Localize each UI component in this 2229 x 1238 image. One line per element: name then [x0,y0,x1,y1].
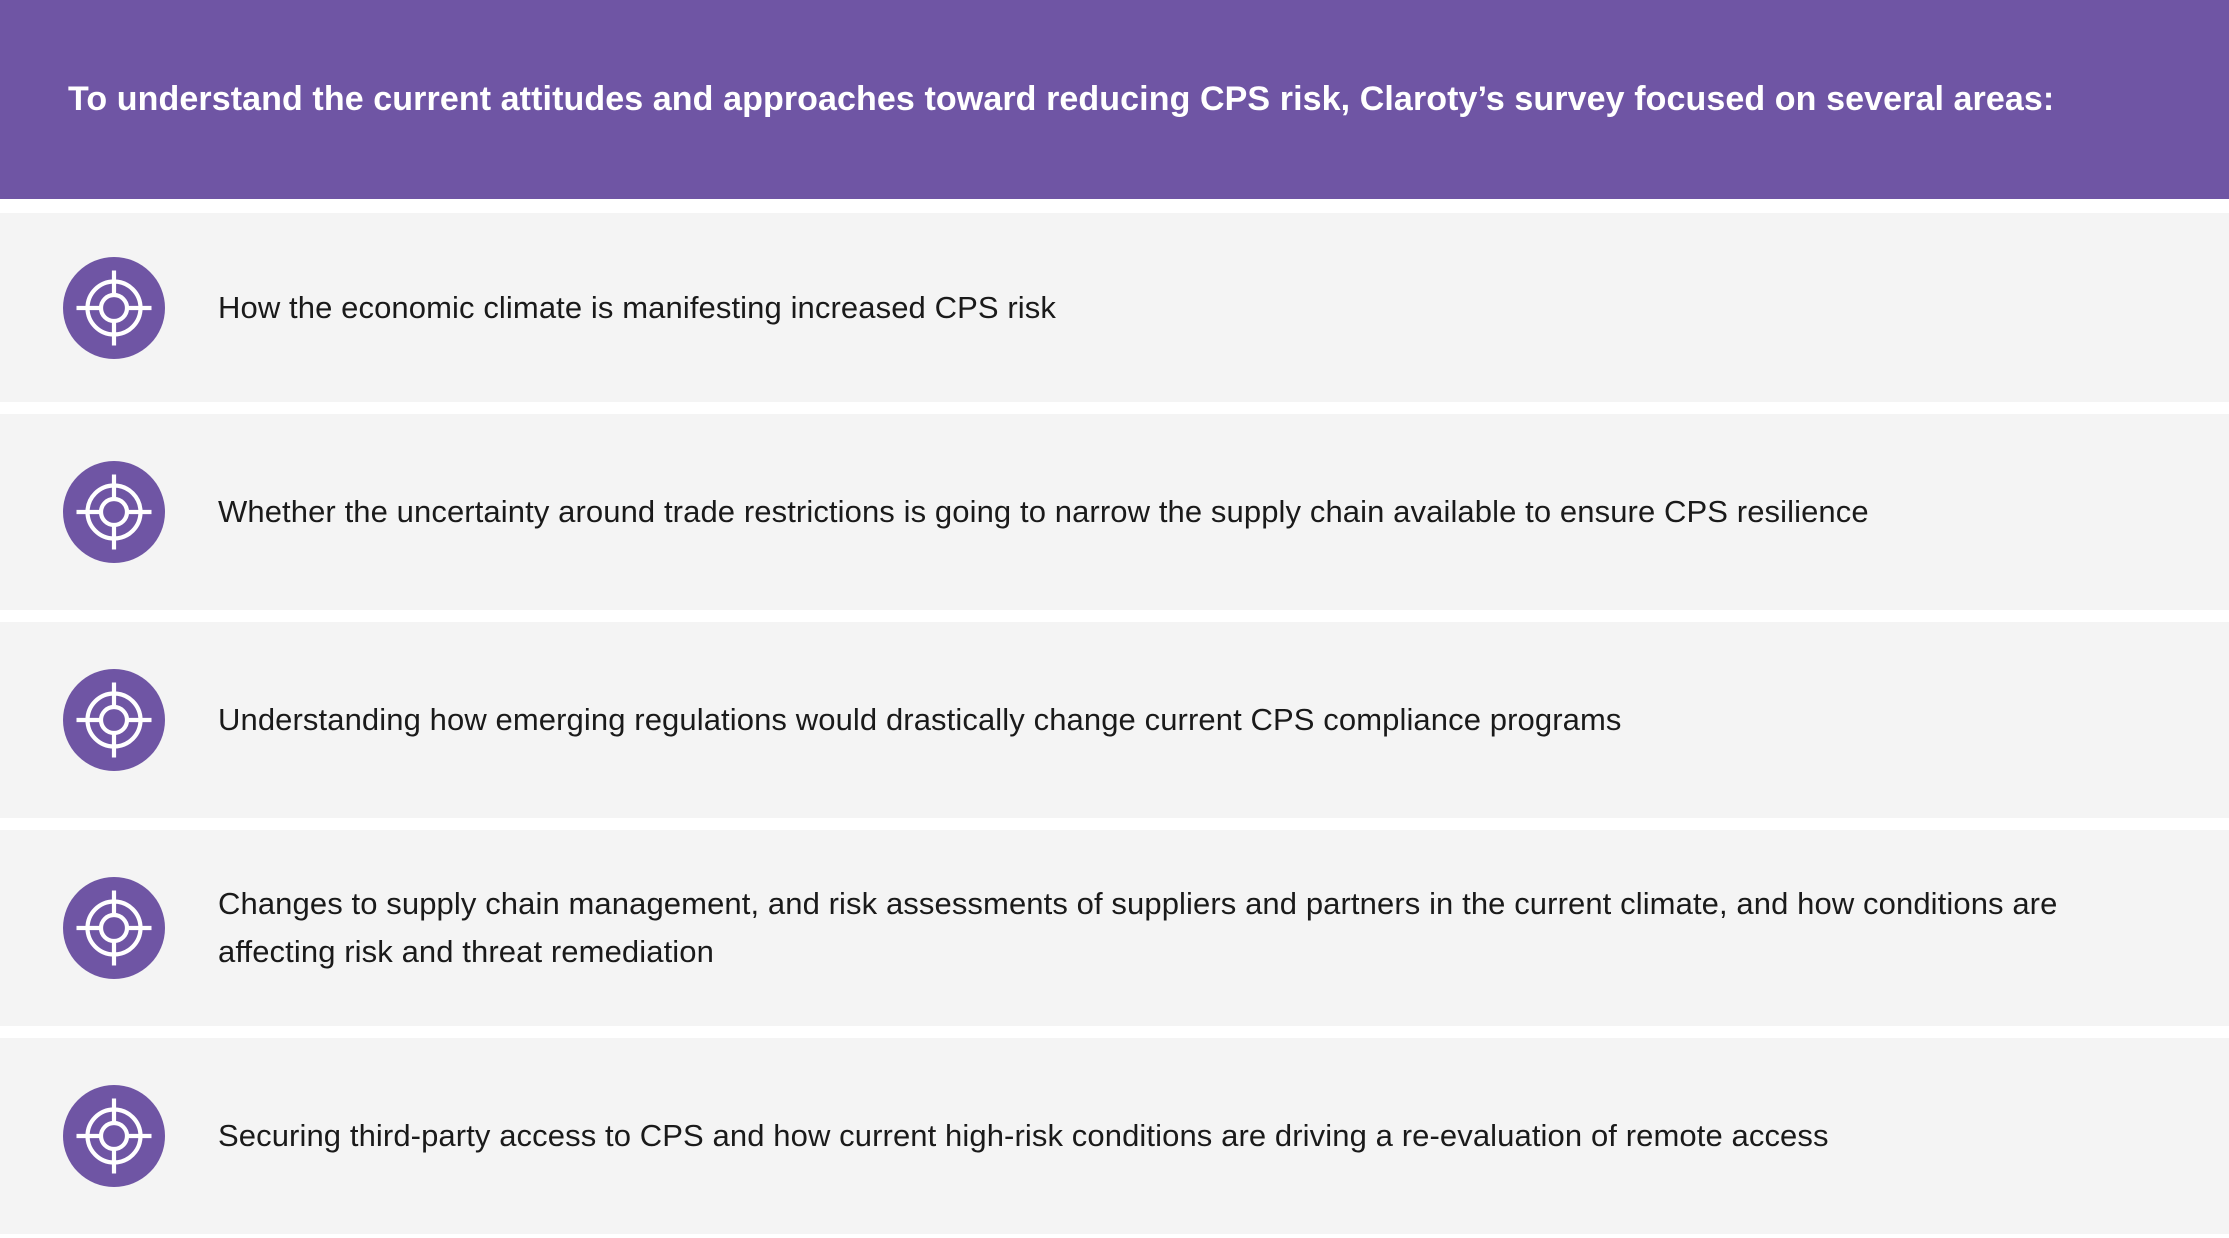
list-item-text: Securing third-party access to CPS and h… [218,1112,2078,1160]
list-item-text: Understanding how emerging regulations w… [218,696,2078,744]
page-title: To understand the current attitudes and … [0,74,2146,125]
list-item: Securing third-party access to CPS and h… [0,1038,2229,1234]
list-item-text: Whether the uncertainty around trade res… [218,488,2078,536]
list-item-text: Changes to supply chain management, and … [218,880,2078,976]
crosshair-target-icon [63,1085,165,1187]
header-band: To understand the current attitudes and … [0,0,2229,199]
focus-areas-list: How the economic climate is manifesting … [0,213,2229,1234]
list-item: Understanding how emerging regulations w… [0,622,2229,818]
crosshair-target-icon [63,669,165,771]
crosshair-target-icon [63,877,165,979]
list-item-text: How the economic climate is manifesting … [218,284,2078,332]
cps-survey-focus-areas-infographic: To understand the current attitudes and … [0,0,2229,1238]
crosshair-target-icon [63,461,165,563]
list-item: How the economic climate is manifesting … [0,213,2229,402]
list-item: Whether the uncertainty around trade res… [0,414,2229,610]
list-item: Changes to supply chain management, and … [0,830,2229,1026]
crosshair-target-icon [63,257,165,359]
